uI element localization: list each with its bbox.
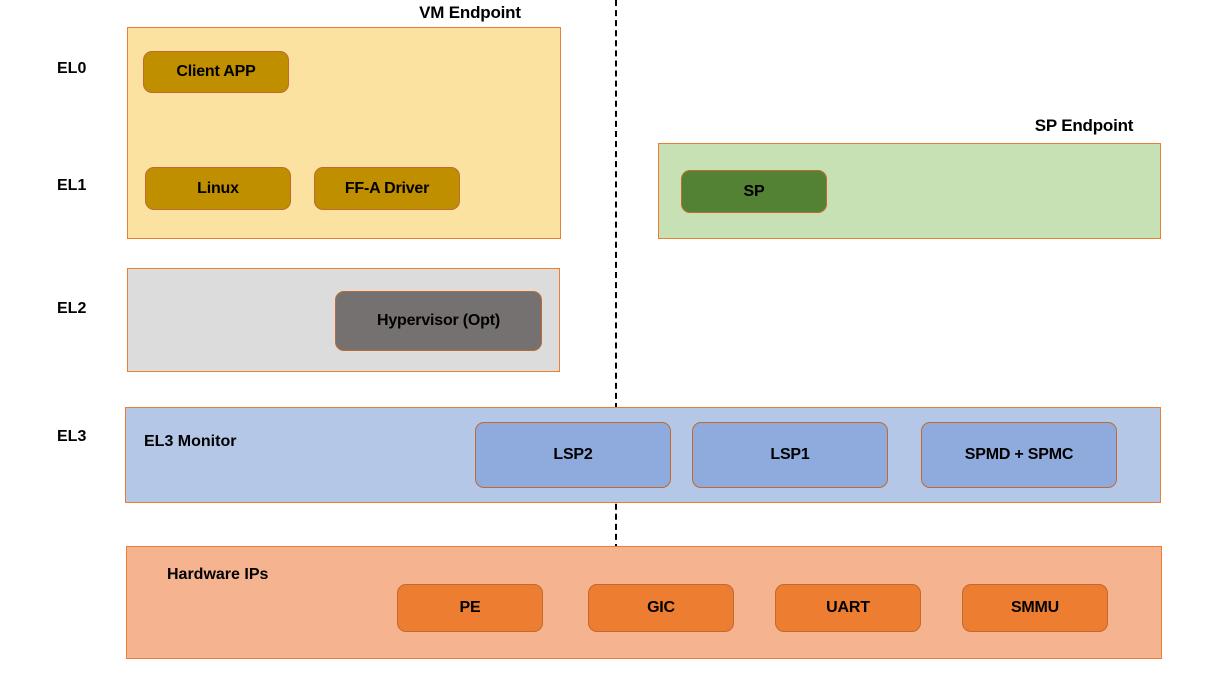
sp-endpoint-band: SP xyxy=(658,143,1161,239)
block-lsp2[interactable]: LSP2 xyxy=(475,422,671,488)
block-linux[interactable]: Linux xyxy=(145,167,291,210)
el3-monitor-heading: EL3 Monitor xyxy=(144,433,236,451)
block-lsp1[interactable]: LSP1 xyxy=(692,422,888,488)
hardware-ips-heading: Hardware IPs xyxy=(167,566,268,584)
el3-band: EL3 Monitor LSP2 LSP1 SPMD + SPMC xyxy=(125,407,1161,503)
block-smmu[interactable]: SMMU xyxy=(962,584,1108,632)
vm-endpoint-band: Client APP Linux FF-A Driver xyxy=(127,27,561,239)
block-hypervisor[interactable]: Hypervisor (Opt) xyxy=(335,291,542,351)
block-spmd-spmc[interactable]: SPMD + SPMC xyxy=(921,422,1117,488)
hardware-ips-band: Hardware IPs PE GIC UART SMMU xyxy=(126,546,1162,659)
el0-label: EL0 xyxy=(57,60,86,78)
el2-label: EL2 xyxy=(57,300,86,318)
el1-label: EL1 xyxy=(57,177,86,195)
vm-endpoint-title: VM Endpoint xyxy=(370,3,570,23)
block-client-app[interactable]: Client APP xyxy=(143,51,289,93)
block-uart[interactable]: UART xyxy=(775,584,921,632)
block-sp[interactable]: SP xyxy=(681,170,827,213)
sp-endpoint-title: SP Endpoint xyxy=(984,116,1184,136)
el2-band: Hypervisor (Opt) xyxy=(127,268,560,372)
el3-label: EL3 xyxy=(57,428,86,446)
diagram-canvas: VM Endpoint SP Endpoint EL0 EL1 EL2 EL3 … xyxy=(0,0,1211,698)
block-gic[interactable]: GIC xyxy=(588,584,734,632)
block-pe[interactable]: PE xyxy=(397,584,543,632)
block-ffa-driver[interactable]: FF-A Driver xyxy=(314,167,460,210)
